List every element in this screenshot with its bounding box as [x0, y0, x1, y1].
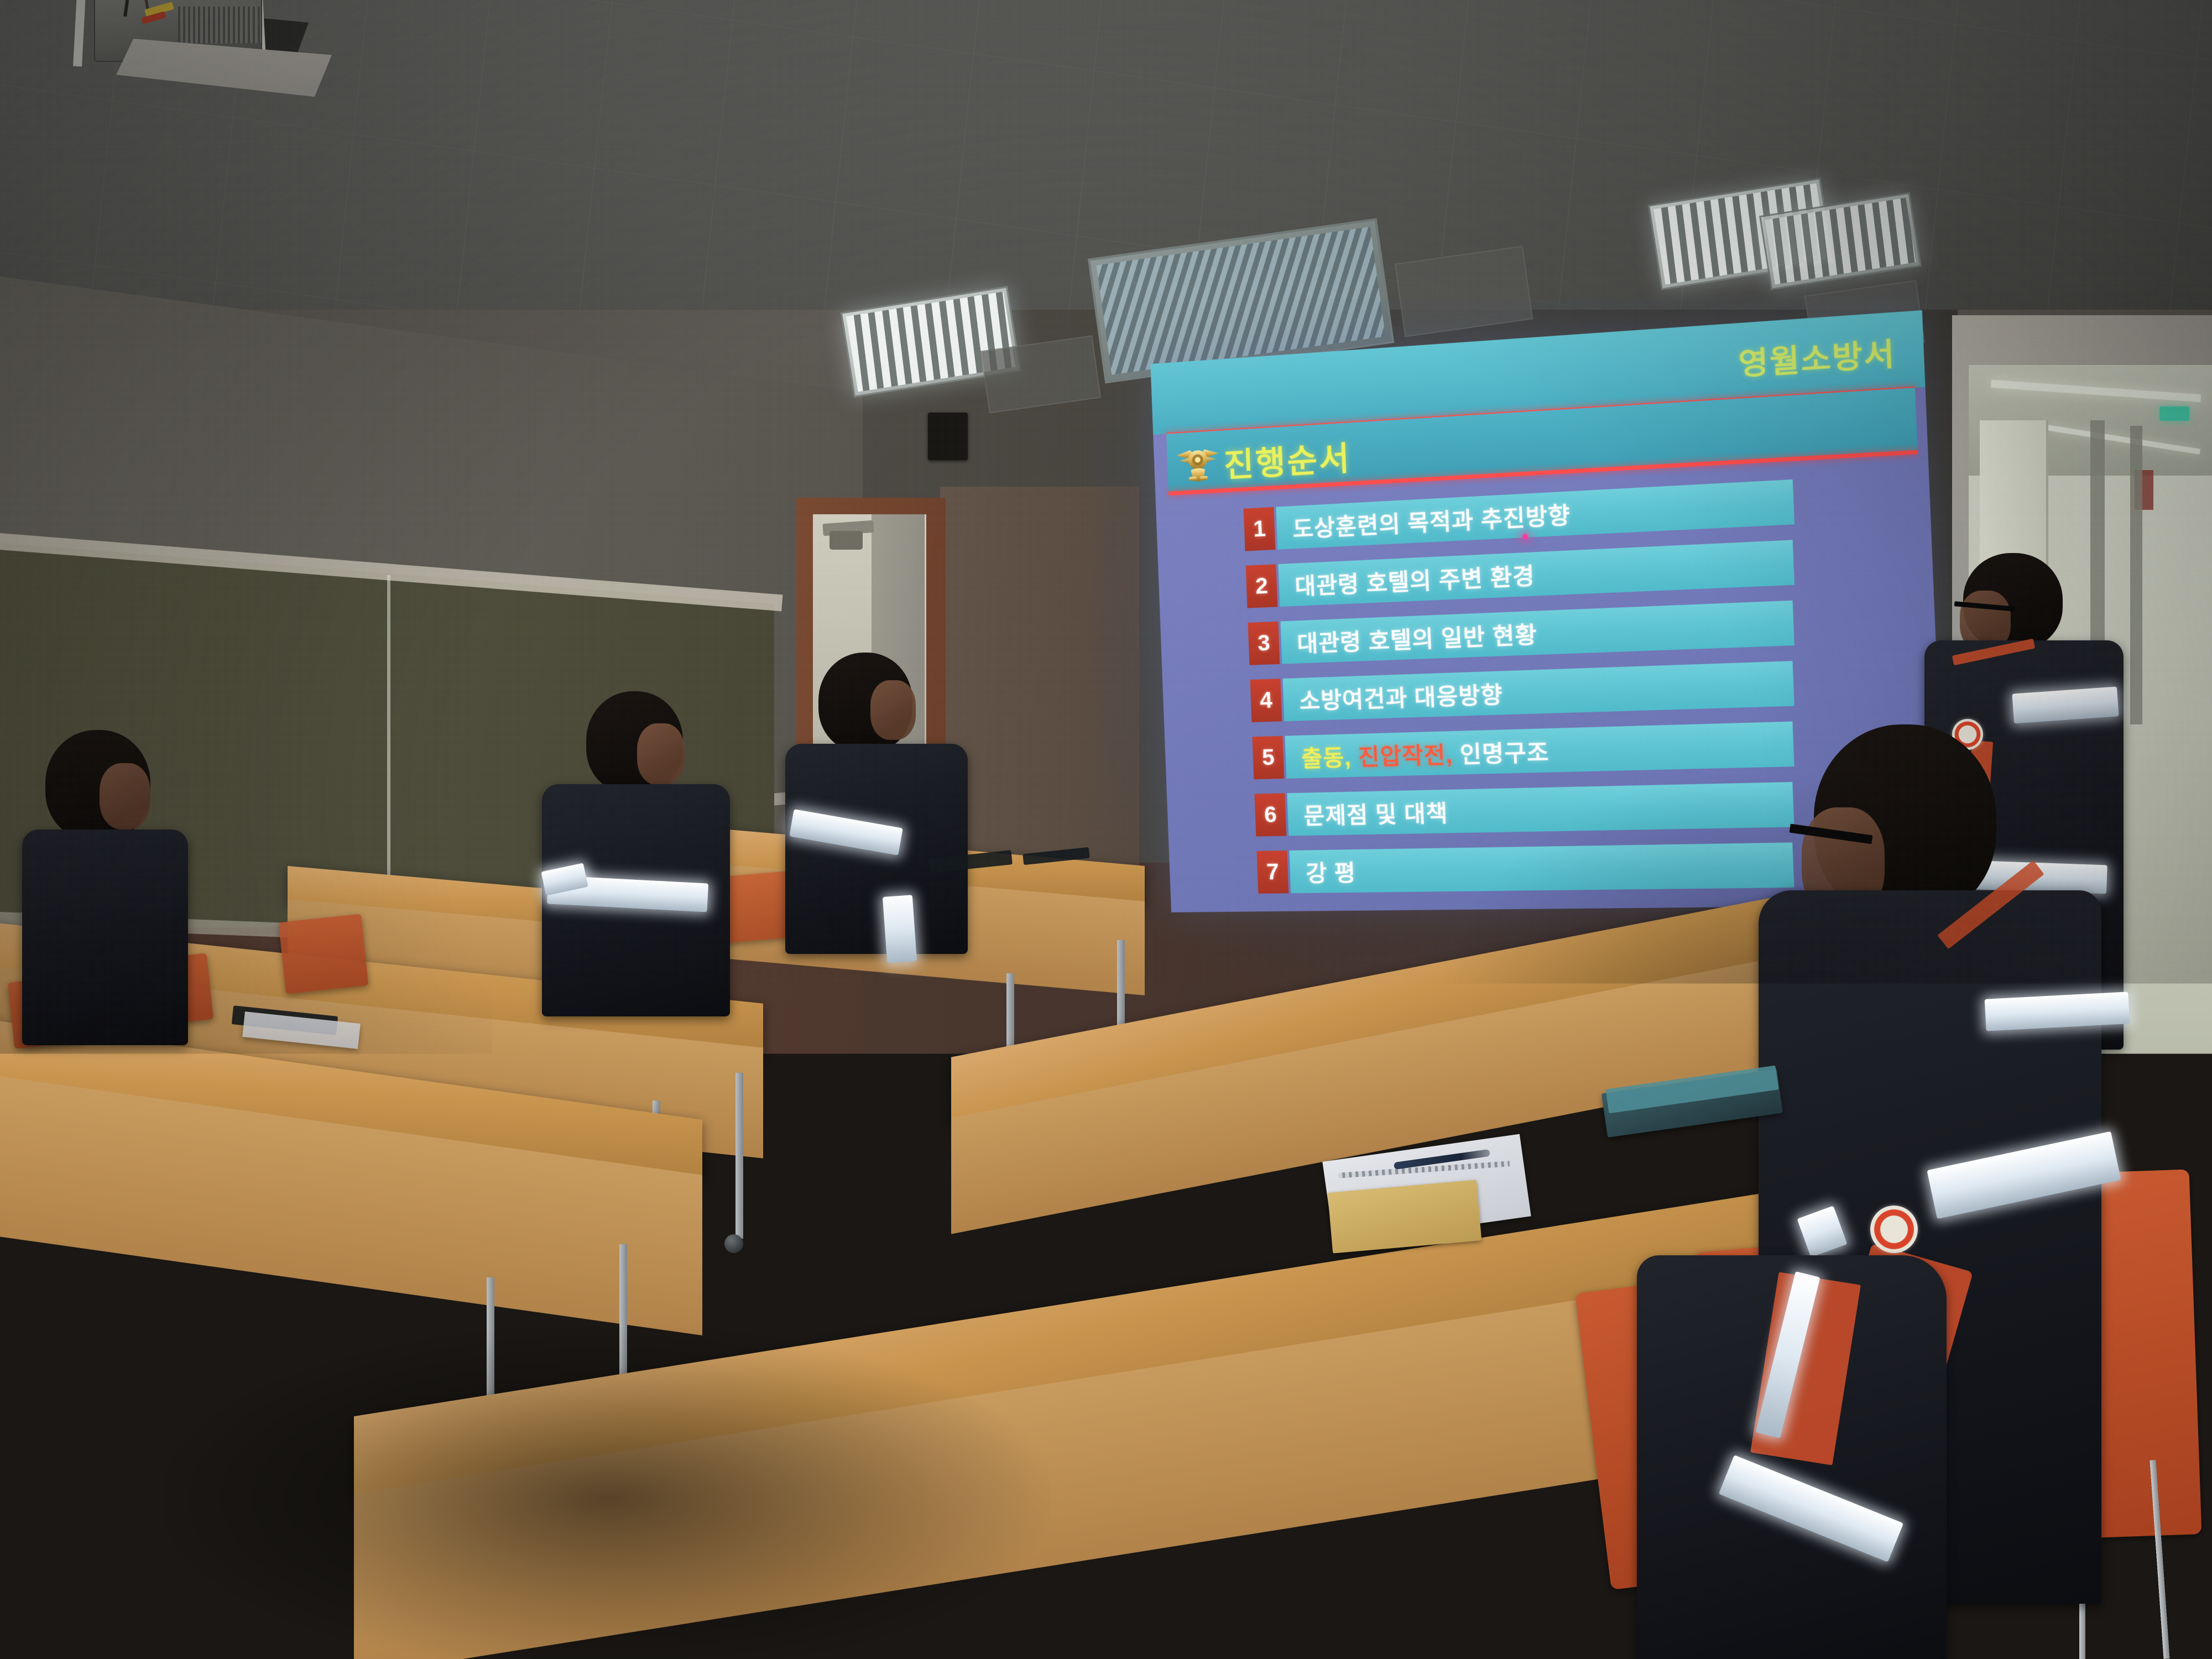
table-caster-left-2: [724, 1234, 743, 1253]
projector-vent-grille: [178, 7, 261, 43]
projector-lift-arm-left: [73, 0, 86, 66]
agenda-row-number: 2: [1246, 564, 1278, 608]
agenda-row-bar: [1289, 842, 1794, 893]
agenda-row-1: 1 도상훈련의 목적과 추진방향: [1276, 479, 1794, 550]
chair-back-3[interactable]: [279, 914, 369, 994]
ceiling-mounted-projector: [61, 0, 293, 116]
torso: [22, 830, 188, 1045]
exit-sign: [2159, 406, 2189, 421]
agenda-row-4: 4 소방여건과 대응방향: [1282, 661, 1794, 721]
agenda-row-3: 3 대관령 호텔의 일반 현황: [1280, 601, 1794, 664]
face: [100, 763, 150, 830]
agenda-row-2: 2 대관령 호텔의 주변 환경: [1278, 540, 1794, 607]
agenda-row-number: 4: [1250, 679, 1282, 722]
fire-service-119-badge-icon: [1870, 1206, 1918, 1253]
agenda-row-5: 5 출동, 진압작전, 인명구조: [1285, 722, 1794, 779]
agenda-segment-yellow: 출동,: [1301, 745, 1352, 771]
door-closer-body: [830, 531, 863, 550]
agenda-row-label: 강 평: [1290, 854, 1357, 888]
agenda-segment-red: 진압작전,: [1358, 743, 1453, 770]
agenda-segment-white: 인명구조: [1459, 740, 1550, 768]
agenda-row-label: 문제점 및 대책: [1287, 795, 1449, 831]
agenda-row-6: 6 문제점 및 대책: [1287, 782, 1794, 836]
agenda-row-number: 7: [1256, 851, 1288, 894]
meeting-room-photo: 영월소방서: [0, 0, 2212, 1659]
agenda-row-label-multicolor: 출동, 진압작전, 인명구조: [1285, 734, 1550, 774]
reflective-stripe-arm: [883, 895, 917, 963]
corridor-pillar-2: [2130, 426, 2142, 724]
wall-speaker: [928, 413, 968, 460]
agenda-row-number: 3: [1248, 622, 1280, 665]
agenda-row-number: 6: [1254, 793, 1286, 836]
face: [637, 723, 685, 785]
face: [870, 680, 916, 740]
table-caster-fg-3: [238, 1526, 257, 1545]
agenda-row-number: 5: [1252, 736, 1284, 779]
agenda-row-7: 7 강 평: [1289, 842, 1794, 893]
wall-panel-beside-door: [940, 487, 1139, 907]
fire-service-winged-emblem-icon: [1173, 439, 1222, 488]
slide-title: 진행순서: [1223, 432, 1352, 487]
whiteboard-panel-divider: [387, 575, 390, 918]
agenda-row-number: 1: [1244, 507, 1276, 551]
tan-block: [1328, 1180, 1482, 1253]
table-leg-left-2: [735, 1073, 743, 1239]
agenda-row-label: 소방여건과 대응방향: [1283, 676, 1504, 716]
